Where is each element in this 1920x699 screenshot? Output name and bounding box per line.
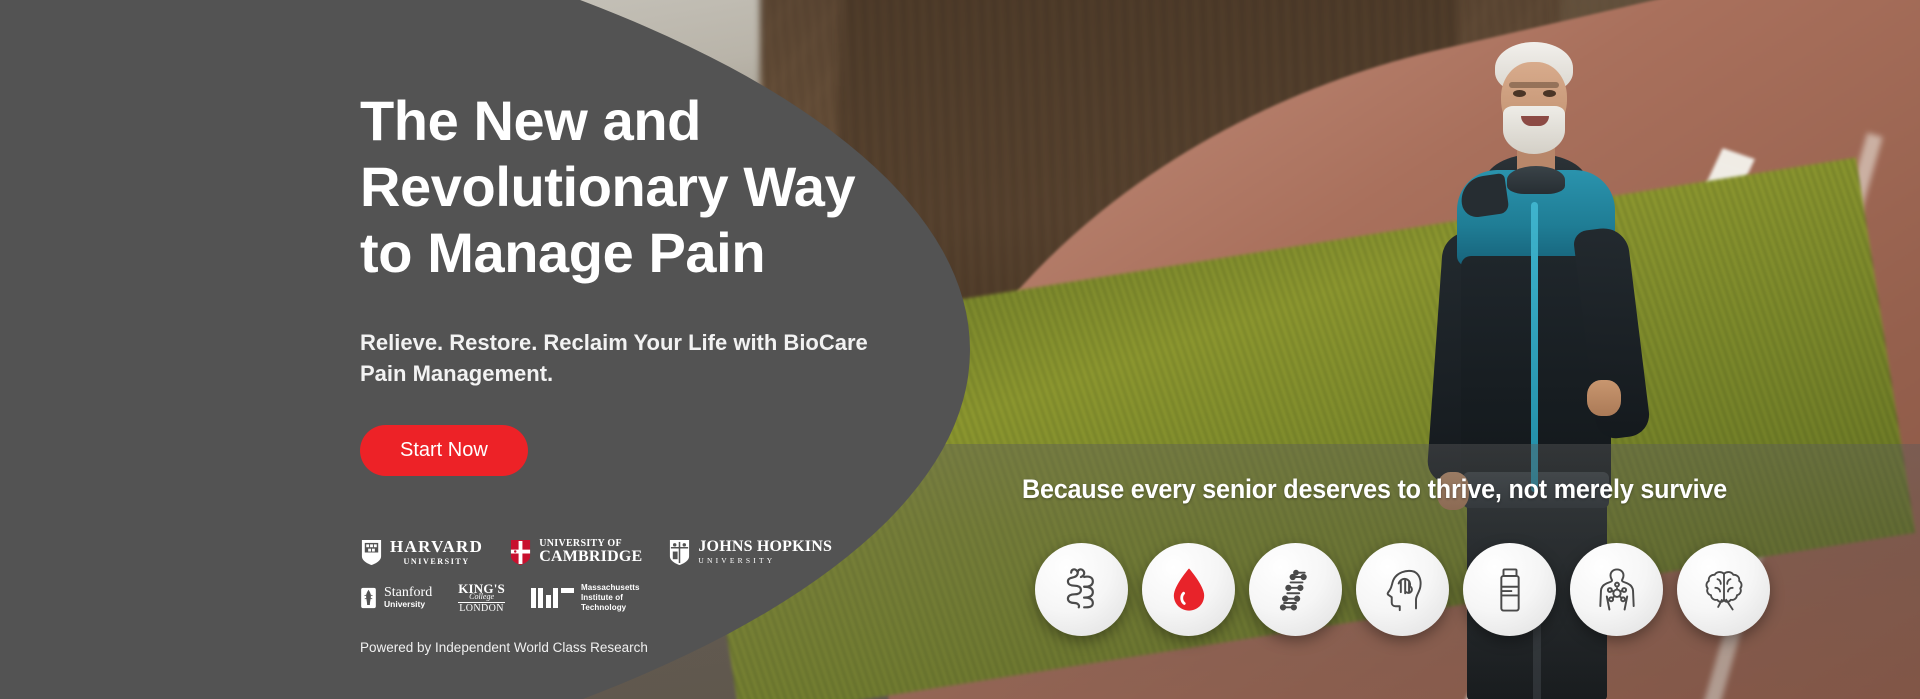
logo-mit: Massachusetts Institute of Technology — [531, 583, 640, 614]
mit-wordmark: Massachusetts Institute of Technology — [581, 583, 640, 614]
badge-gut-health[interactable] — [1035, 543, 1128, 636]
university-logos: HARVARD UNIVERSITY UNIVERSITY OF CAMBRID… — [360, 538, 920, 614]
mit-bars-icon — [531, 588, 574, 608]
badge-dna-genetics[interactable] — [1249, 543, 1342, 636]
torso-molecule-icon — [1591, 564, 1643, 616]
logo-row-2: Stanford University KING'S College LONDO… — [360, 582, 920, 614]
hero-tagline: Because every senior deserves to thrive,… — [1022, 474, 1840, 505]
logo-harvard: HARVARD UNIVERSITY — [360, 538, 483, 566]
harvard-wordmark: HARVARD UNIVERSITY — [390, 538, 483, 566]
runner-beard — [1503, 106, 1565, 154]
blood-drop-icon — [1163, 564, 1215, 616]
head-brain-profile-icon — [1377, 564, 1429, 616]
runner-collar — [1507, 166, 1565, 194]
badge-neurological-health[interactable] — [1356, 543, 1449, 636]
page-title: The New and Revolutionary Way to Manage … — [360, 88, 920, 286]
stanford-tree-icon — [360, 587, 377, 609]
logo-johns-hopkins: JOHNS HOPKINS UNIVERSITY — [668, 539, 832, 566]
runner-right-hand — [1587, 380, 1621, 416]
runner-brow — [1509, 82, 1559, 88]
badge-inflammation[interactable] — [1570, 543, 1663, 636]
start-now-button[interactable]: Start Now — [360, 425, 528, 476]
logo-kings-college-london: KING'S College LONDON — [458, 582, 505, 614]
harvard-crest-icon — [360, 539, 383, 566]
supplement-bottle-icon — [1484, 564, 1536, 616]
cambridge-wordmark: UNIVERSITY OF CAMBRIDGE — [539, 539, 642, 566]
badge-blood-health[interactable] — [1142, 543, 1235, 636]
brain-icon — [1698, 564, 1750, 616]
intestine-icon — [1056, 564, 1108, 616]
logo-row-1: HARVARD UNIVERSITY UNIVERSITY OF CAMBRID… — [360, 538, 920, 566]
runner-right-eye — [1543, 90, 1556, 97]
hero-banner: The New and Revolutionary Way to Manage … — [0, 0, 1920, 699]
cambridge-shield-icon — [509, 539, 532, 566]
dna-helix-icon — [1270, 564, 1322, 616]
runner-left-eye — [1513, 90, 1526, 97]
kings-college-icon: KING'S College LONDON — [458, 582, 505, 614]
stanford-wordmark: Stanford University — [384, 586, 432, 610]
logo-stanford: Stanford University — [360, 586, 432, 610]
johns-hopkins-wordmark: JOHNS HOPKINS UNIVERSITY — [698, 539, 832, 565]
badge-cognitive-health[interactable] — [1677, 543, 1770, 636]
johns-hopkins-shield-icon — [668, 539, 691, 566]
powered-by-text: Powered by Independent World Class Resea… — [360, 640, 920, 655]
logo-cambridge: UNIVERSITY OF CAMBRIDGE — [509, 539, 642, 566]
runner-shoulder-panel — [1458, 173, 1509, 219]
hero-content: The New and Revolutionary Way to Manage … — [360, 0, 920, 699]
health-icon-badges — [1035, 543, 1770, 636]
hero-subtitle: Relieve. Restore. Reclaim Your Life with… — [360, 328, 920, 389]
badge-supplement[interactable] — [1463, 543, 1556, 636]
